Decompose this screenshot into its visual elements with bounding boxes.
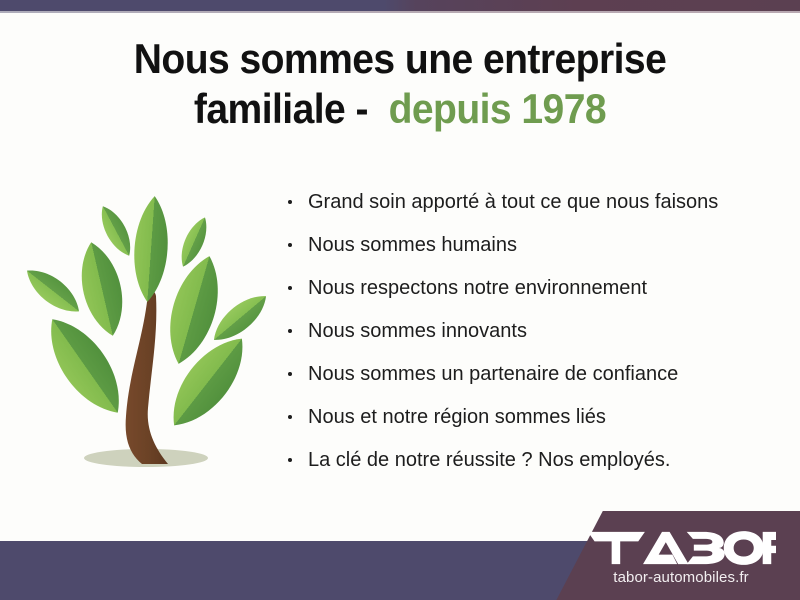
list-item: Grand soin apporté à tout ce que nous fa… [286,192,786,214]
bullet-dot-icon [288,372,292,376]
slide-canvas: Nous sommes une entreprise familiale - d… [0,0,800,600]
leaf-mid-left-large [73,238,131,340]
leaf-lower-left-large [34,307,135,425]
top-accent-hairline [0,11,800,13]
list-item: La clé de notre réussite ? Nos employés. [286,450,786,472]
tree-trunk [126,290,168,464]
list-item: Nous sommes innovants [286,321,786,343]
bullet-dot-icon [288,200,292,204]
slide-title: Nous sommes une entreprise familiale - d… [0,34,800,133]
bullet-dot-icon [288,329,292,333]
value-bullet-list: Grand soin apporté à tout ce que nous fa… [286,192,786,472]
title-line-2-green: depuis 1978 [389,85,606,132]
tree-illustration [18,186,274,486]
list-item: Nous sommes un partenaire de confiance [286,364,786,386]
bullet-dot-icon [288,243,292,247]
list-item: Nous et notre région sommes liés [286,407,786,429]
leaf-top-center [131,195,171,303]
top-accent-bar [0,0,800,11]
brand-logo[interactable]: tabor-automobiles.fr [586,529,776,586]
bullet-dot-icon [288,415,292,419]
logo-tagline: tabor-automobiles.fr [586,569,776,586]
list-item-label: Nous respectons notre environnement [308,278,647,298]
list-item: Nous respectons notre environnement [286,278,786,300]
list-item: Nous sommes humains [286,235,786,257]
list-item-label: Grand soin apporté à tout ce que nous fa… [308,192,718,212]
list-item-label: Nous sommes humains [308,235,517,255]
leaf-far-left [20,261,87,321]
title-line-1: Nous sommes une entreprise [28,34,772,84]
list-item-label: Nous sommes un partenaire de confiance [308,364,678,384]
list-item-label: La clé de notre réussite ? Nos employés. [308,450,670,470]
bullet-dot-icon [288,286,292,290]
list-item-label: Nous sommes innovants [308,321,527,341]
list-item-label: Nous et notre région sommes liés [308,407,606,427]
title-line-2: familiale - depuis 1978 [28,84,772,134]
title-line-2-black: familiale - [194,85,368,132]
bullet-dot-icon [288,458,292,462]
tabor-wordmark-icon [586,529,776,567]
